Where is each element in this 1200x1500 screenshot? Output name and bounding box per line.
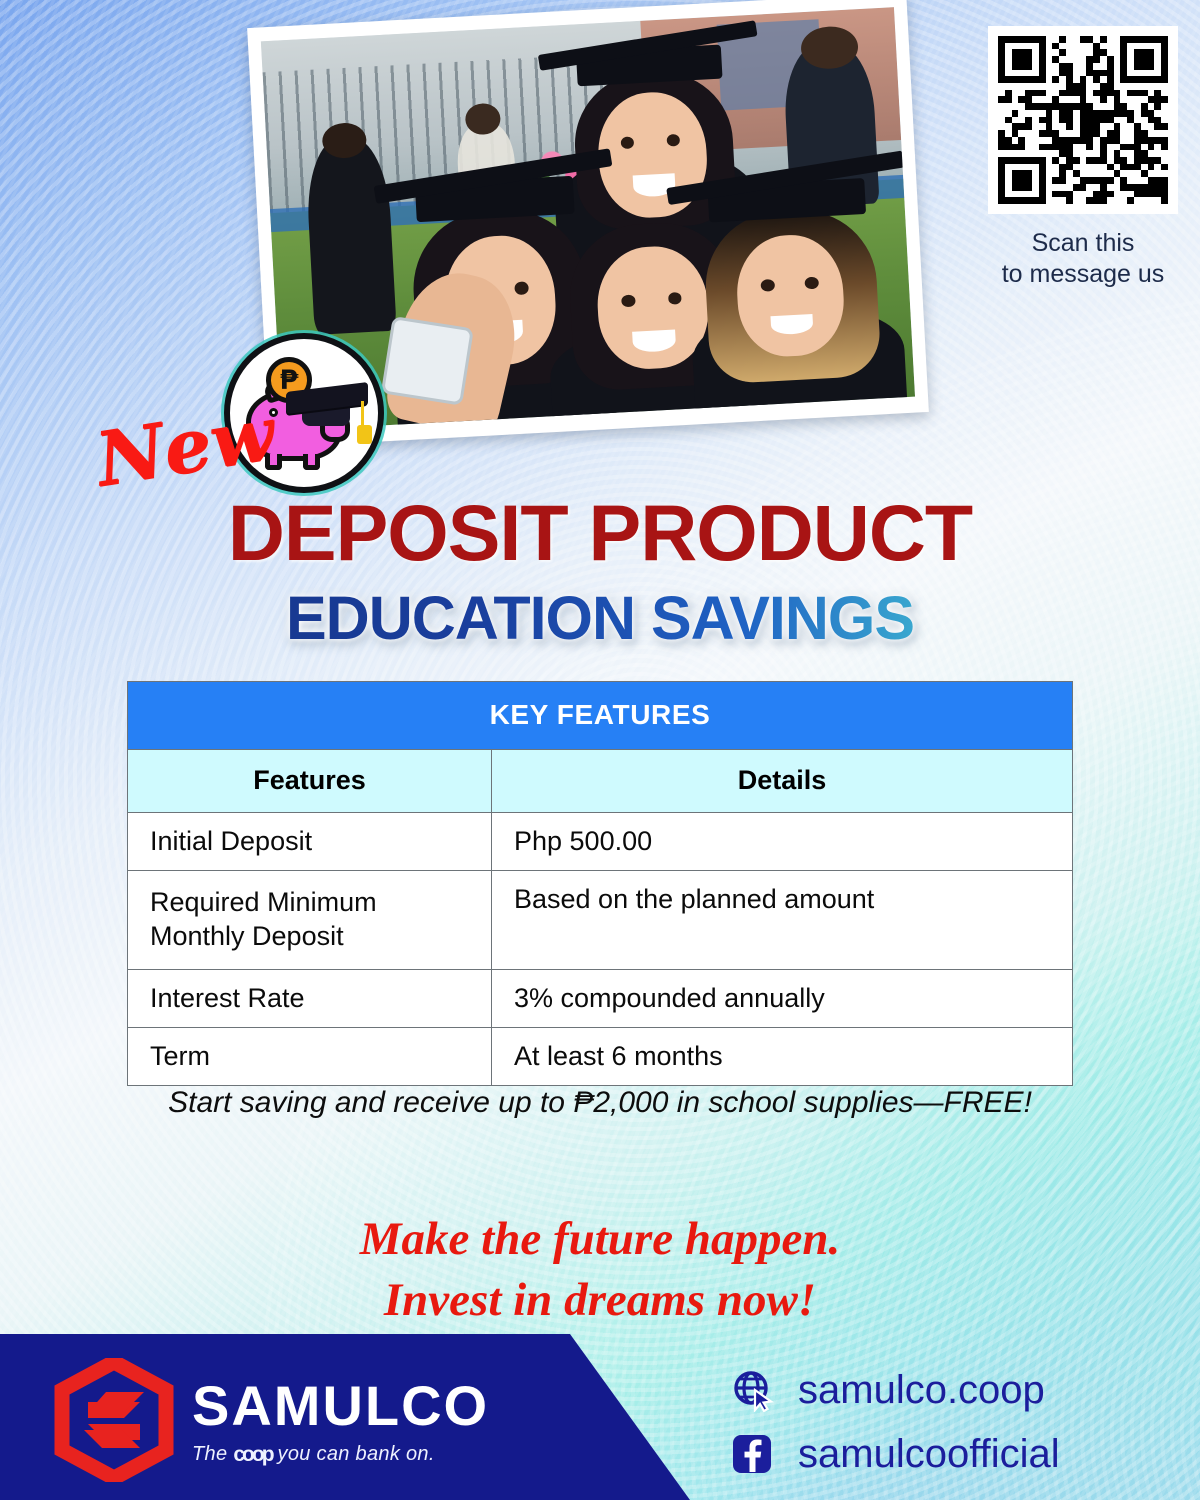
facebook-label: samulcoofficial	[798, 1434, 1060, 1474]
page-title: DEPOSIT PRODUCT	[0, 487, 1200, 579]
table-row: Required Minimum Monthly Deposit Based o…	[128, 871, 1073, 970]
column-header-features: Features	[128, 750, 492, 813]
feature-cell: Initial Deposit	[128, 813, 492, 871]
table-banner: KEY FEATURES	[128, 682, 1073, 750]
qr-caption: Scan this to message us	[988, 228, 1178, 289]
poster-canvas: Scan this to message us ₱ New DEPOSIT PR…	[0, 0, 1200, 1500]
brand-logo: SAMULCO The coop you can bank on.	[54, 1358, 489, 1482]
tagline-after: you can bank on.	[278, 1443, 435, 1466]
qr-code-icon[interactable]	[988, 26, 1178, 214]
feature-cell: Term	[128, 1028, 492, 1086]
slogan-line-1: Make the future happen.	[0, 1209, 1200, 1270]
table-row: Initial Deposit Php 500.00	[128, 813, 1073, 871]
tagline-before: The	[192, 1443, 227, 1466]
key-features-table: KEY FEATURES Features Details Initial De…	[127, 681, 1073, 1086]
table-row: Term At least 6 months	[128, 1028, 1073, 1086]
page-subtitle: EDUCATION SAVINGS	[0, 583, 1200, 653]
globe-cursor-icon	[730, 1368, 774, 1412]
detail-cell: Php 500.00	[492, 813, 1073, 871]
table-banner-row: KEY FEATURES	[128, 682, 1073, 750]
graduation-cap-icon	[286, 387, 368, 421]
slogan-line-2: Invest in dreams now!	[0, 1270, 1200, 1331]
brand-name: SAMULCO	[192, 1378, 489, 1434]
qr-caption-line2: to message us	[988, 259, 1178, 290]
column-header-details: Details	[492, 750, 1073, 813]
slogan: Make the future happen. Invest in dreams…	[0, 1209, 1200, 1331]
website-label: samulco.coop	[798, 1370, 1045, 1410]
footer: SAMULCO The coop you can bank on.	[0, 1334, 1200, 1500]
detail-cell: 3% compounded annually	[492, 970, 1073, 1028]
social-link-facebook[interactable]: samulcoofficial	[730, 1426, 1130, 1482]
detail-cell: Based on the planned amount	[492, 871, 1073, 970]
feature-cell: Required Minimum Monthly Deposit	[128, 871, 492, 970]
table-row: Interest Rate 3% compounded annually	[128, 970, 1073, 1028]
detail-cell: At least 6 months	[492, 1028, 1073, 1086]
brand-tagline: The coop you can bank on.	[192, 1443, 489, 1467]
social-link-website[interactable]: samulco.coop	[730, 1362, 1130, 1418]
feature-cell: Interest Rate	[128, 970, 492, 1028]
samulco-hexagon-logo-icon	[54, 1358, 174, 1482]
social-links: samulco.coop samulcoofficial	[730, 1362, 1130, 1490]
qr-caption-line1: Scan this	[988, 228, 1178, 259]
table-footnote: Start saving and receive up to ₱2,000 in…	[0, 1086, 1200, 1120]
qr-block: Scan this to message us	[988, 26, 1178, 289]
facebook-icon	[730, 1432, 774, 1476]
table-header-row: Features Details	[128, 750, 1073, 813]
coop-glyph: coop	[233, 1443, 271, 1467]
